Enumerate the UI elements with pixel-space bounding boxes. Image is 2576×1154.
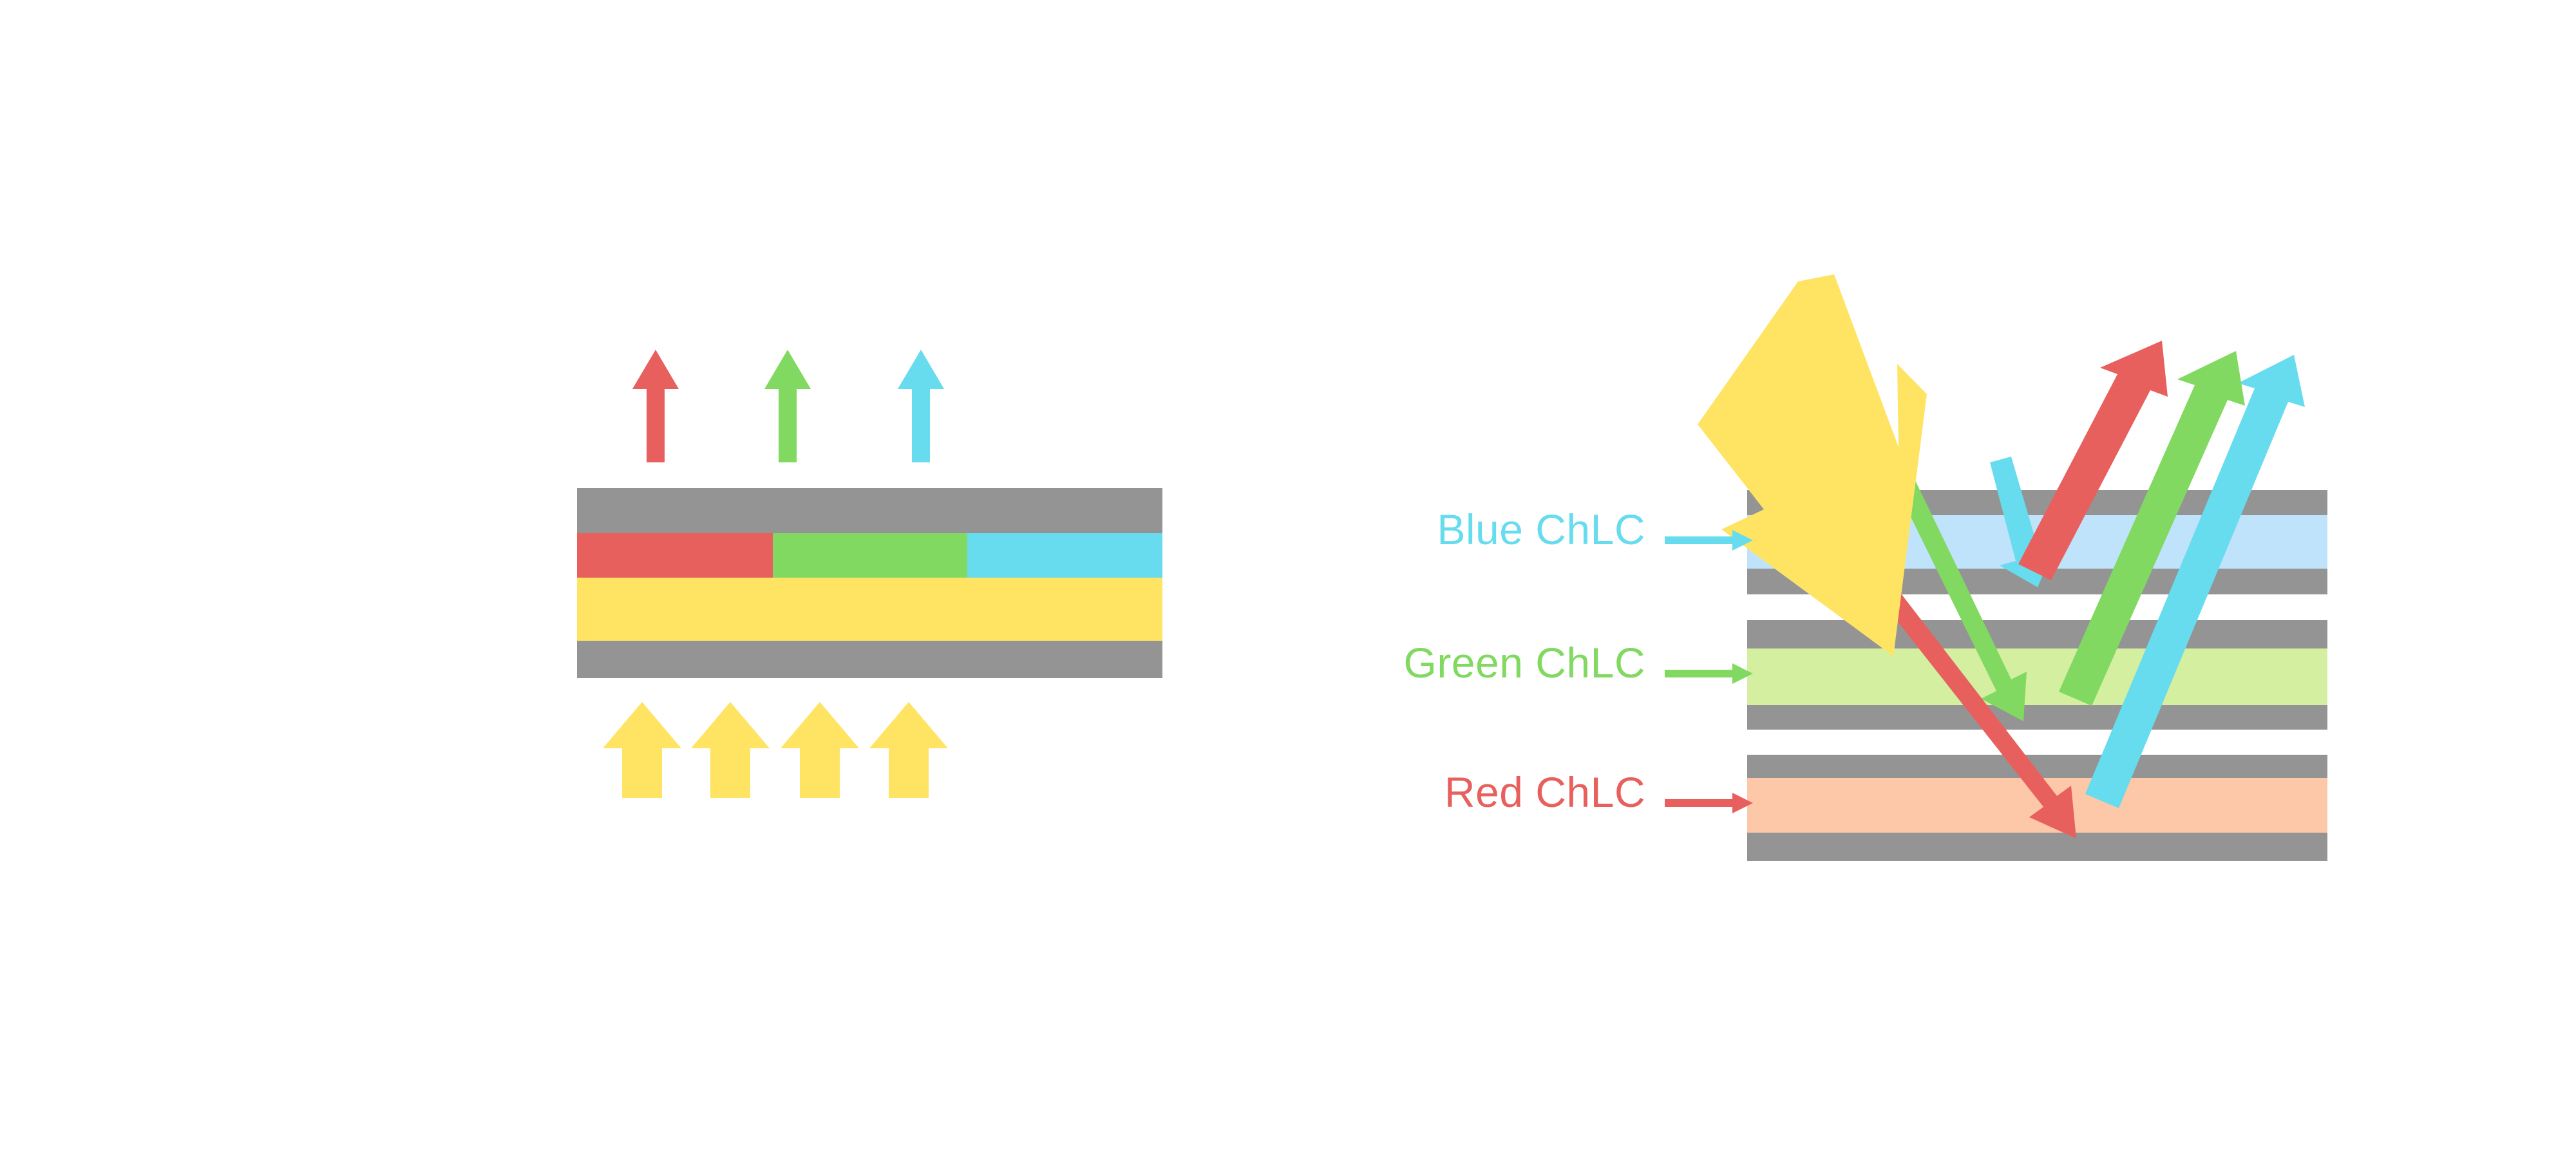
green-chlc-label: Green ChLC xyxy=(1403,639,1645,686)
diagram-svg: Blue ChLC Green ChLC Red ChLC xyxy=(0,0,2576,1154)
green-top-substrate xyxy=(1747,620,2327,648)
green-filter-segment xyxy=(773,533,967,578)
green-chlc-layer xyxy=(1747,648,2327,705)
red-emission-arrow xyxy=(632,350,679,462)
diagram-canvas: Blue ChLC Green ChLC Red ChLC xyxy=(0,0,2576,1154)
backlight-arrow xyxy=(781,702,859,798)
blue-filter-segment xyxy=(967,533,1162,578)
gap-green-red xyxy=(1747,730,2327,755)
red-bottom-substrate xyxy=(1747,833,2327,861)
green-emission-arrow xyxy=(764,350,811,462)
backlight-arrow xyxy=(603,702,681,798)
red-filter-segment xyxy=(577,533,773,578)
yellow-backlight-layer xyxy=(577,578,1162,641)
right-panel: Blue ChLC Green ChLC Red ChLC xyxy=(1403,274,2327,861)
right-panel-labels: Blue ChLC Green ChLC Red ChLC xyxy=(1403,506,1753,816)
blue-chlc-label: Blue ChLC xyxy=(1437,506,1645,553)
top-electrode xyxy=(577,488,1162,533)
red-chlc-label: Red ChLC xyxy=(1444,768,1645,816)
blue-emission-arrow xyxy=(898,350,944,462)
green-bottom-substrate xyxy=(1747,705,2327,730)
backlight-arrow xyxy=(691,702,770,798)
left-panel xyxy=(577,350,1162,798)
left-bottom-arrows xyxy=(603,702,948,798)
backlight-arrow xyxy=(869,702,948,798)
red-chlc-pointer-arrow xyxy=(1665,793,1753,813)
left-top-arrows xyxy=(632,350,944,462)
bottom-electrode xyxy=(577,641,1162,678)
green-chlc-pointer-arrow xyxy=(1665,663,1753,684)
